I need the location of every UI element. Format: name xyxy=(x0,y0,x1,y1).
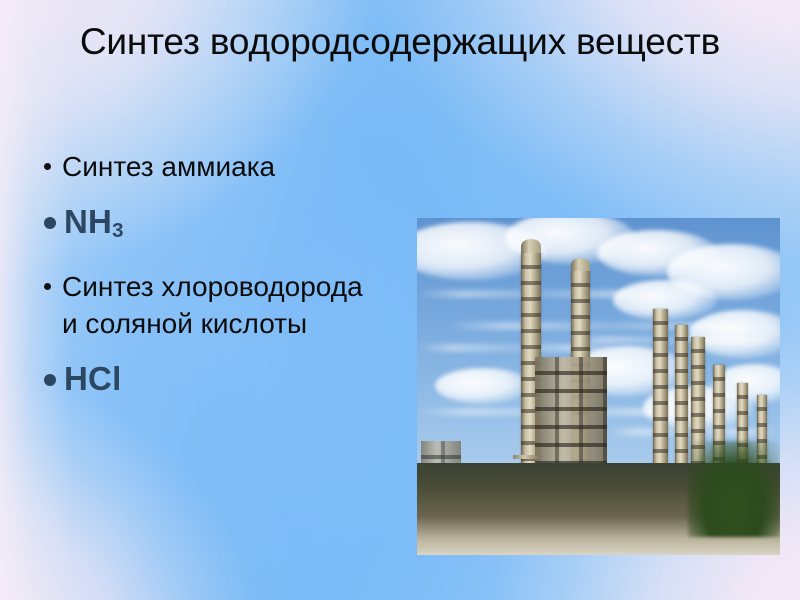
bullet-item-label: Синтез хлороводорода и соляной кислоты xyxy=(62,268,374,342)
bullet-item-formula-hcl: HCl xyxy=(44,358,374,405)
bullet-item-hydrogen-chloride-synthesis: Синтез хлороводорода и соляной кислоты xyxy=(44,268,374,342)
bullet-dot-icon xyxy=(44,374,56,386)
photo-tower-cap xyxy=(521,239,541,253)
bullet-dot-icon xyxy=(44,217,56,229)
bullet-item-label: HCl xyxy=(64,358,374,405)
presentation-slide: Синтез водородсодержащих веществ Синтез … xyxy=(0,0,800,600)
bullet-item-label: Синтез аммиака xyxy=(62,148,374,185)
photo-cloud-streak xyxy=(417,290,667,298)
formula-base: NH xyxy=(64,203,112,240)
list-spacer xyxy=(44,187,374,201)
list-spacer xyxy=(44,344,374,358)
list-spacer xyxy=(44,248,374,268)
formula-base: HCl xyxy=(64,360,121,397)
industrial-plant-image-content xyxy=(417,218,780,555)
photo-cloud-streak xyxy=(447,322,777,330)
photo-tower-cap xyxy=(571,258,590,271)
bullet-list: Синтез аммиака NH3 Синтез хлороводорода … xyxy=(44,148,374,405)
bullet-dot-icon xyxy=(44,283,51,290)
photo-cloud-streak xyxy=(567,336,777,344)
photo-trees xyxy=(688,441,780,537)
slide-title: Синтез водородсодержащих веществ xyxy=(36,20,764,64)
bullet-dot-icon xyxy=(44,163,51,170)
industrial-plant-image xyxy=(417,218,780,555)
bullet-item-ammonia-synthesis: Синтез аммиака xyxy=(44,148,374,185)
photo-pipe xyxy=(513,455,539,459)
bullet-item-formula-nh3: NH3 xyxy=(44,201,374,248)
formula-subscript: 3 xyxy=(112,219,124,242)
bullet-item-label: NH3 xyxy=(64,201,374,248)
photo-cloud xyxy=(435,368,531,404)
